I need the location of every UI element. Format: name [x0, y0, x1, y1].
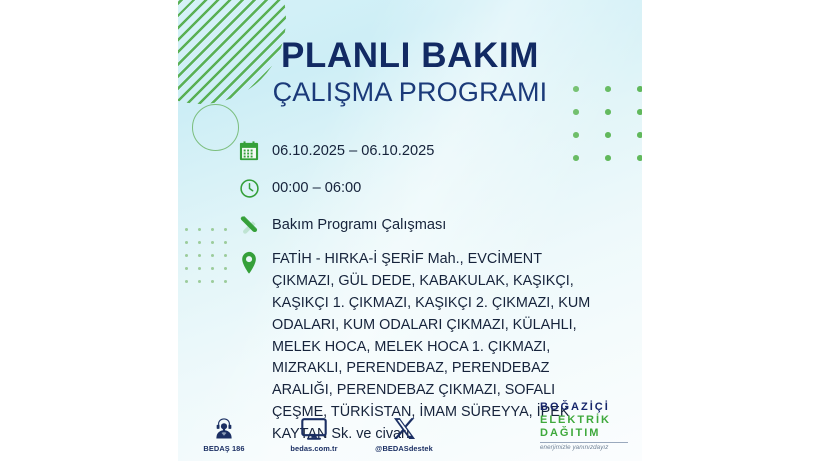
- calendar-icon: [236, 138, 262, 164]
- circle-outline-decoration: [192, 104, 239, 151]
- detail-row-time: 00:00 – 06:00: [236, 175, 608, 201]
- contact-x-label: @BEDASdestek: [372, 444, 436, 453]
- brand-tagline: enerjimizle yanınızdayız: [540, 444, 628, 451]
- brand-line-2: ELEKTRİK: [540, 414, 628, 427]
- monitor-icon: [282, 413, 346, 441]
- bedas-logo: BOĞAZİÇİ ELEKTRİK DAĞITIM enerjimizle ya…: [540, 401, 628, 451]
- contact-website[interactable]: bedas.com.tr: [282, 413, 346, 453]
- contact-phone[interactable]: BEDAŞ 186: [192, 413, 256, 453]
- page-title: PLANLI BAKIM: [178, 38, 642, 74]
- page-subtitle: ÇALIŞMA PROGRAMI: [178, 78, 642, 107]
- screenshot-root: PLANLI BAKIM ÇALIŞMA PROGRAMI: [0, 0, 820, 461]
- location-pin-icon: [236, 249, 262, 275]
- clock-icon: [236, 175, 262, 201]
- contact-phone-label: BEDAŞ 186: [192, 444, 256, 453]
- x-social-icon: [372, 413, 436, 441]
- detail-row-date: 06.10.2025 – 06.10.2025: [236, 138, 608, 164]
- contact-x-social[interactable]: @BEDASdestek: [372, 413, 436, 453]
- contact-channels: BEDAŞ 186 bedas.com.tr: [192, 413, 436, 453]
- call-center-agent-icon: [192, 413, 256, 441]
- poster-footer: BEDAŞ 186 bedas.com.tr: [178, 399, 642, 455]
- brand-divider: [540, 442, 628, 443]
- brand-line-3: DAĞITIM: [540, 427, 628, 440]
- maintenance-date-range: 06.10.2025 – 06.10.2025: [272, 138, 434, 161]
- brand-line-1: BOĞAZİÇİ: [540, 401, 628, 414]
- tools-icon: [236, 212, 262, 238]
- contact-website-label: bedas.com.tr: [282, 444, 346, 453]
- planned-maintenance-poster: PLANLI BAKIM ÇALIŞMA PROGRAMI: [178, 0, 642, 461]
- maintenance-time-range: 00:00 – 06:00: [272, 175, 361, 198]
- maintenance-work-type: Bakım Programı Çalışması: [272, 212, 446, 235]
- detail-row-work-type: Bakım Programı Çalışması: [236, 212, 608, 238]
- dot-grid-left-decoration: [185, 228, 230, 286]
- poster-heading: PLANLI BAKIM ÇALIŞMA PROGRAMI: [178, 38, 642, 108]
